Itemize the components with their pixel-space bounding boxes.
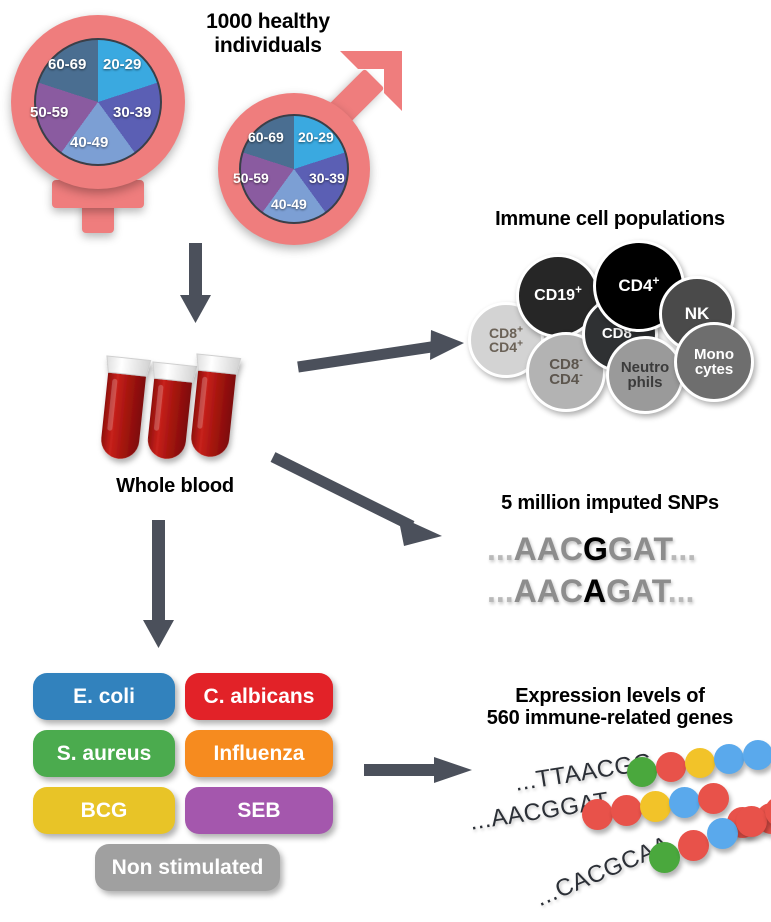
female-cohort-symbol: 20-29 30-39 40-49 50-59 60-69: [8, 12, 188, 237]
immune-cell-cd8n-cd4n-line1: CD8-: [549, 357, 583, 372]
snp-row-2-right: GAT: [606, 573, 668, 609]
gene-strand-3-bead-3: [707, 818, 738, 849]
stimulus-non-stimulated[interactable]: Non stimulated: [95, 844, 280, 891]
male-age-label-40-49: 40-49: [271, 196, 307, 212]
arrow-stimuli-to-expression: [364, 755, 474, 789]
gene-strand-2-bead-4: [669, 787, 700, 818]
gene-strand-2-bead-1: [582, 799, 613, 830]
title-imputed-snps: 5 million imputed SNPs: [450, 492, 770, 514]
gene-strand-1-bead-2: [656, 752, 686, 782]
immune-cell-cd19p-label: CD19+: [534, 288, 582, 304]
female-age-label-50-59: 50-59: [30, 104, 68, 121]
gene-strand-3-bead-2: [678, 830, 709, 861]
stimulus-seb-label: SEB: [237, 799, 280, 823]
stimulus-s-aureus[interactable]: S. aureus: [33, 730, 175, 777]
immune-cell-nk-label: NK: [685, 305, 710, 322]
gene-strand-3: ...CACGCAA: [537, 852, 771, 922]
arrow-blood-to-snps: [270, 450, 456, 550]
arrow-cohort-to-blood: [176, 243, 216, 327]
immune-cell-neutrophils-line2: phils: [627, 375, 662, 390]
whole-blood-tubes: [96, 338, 256, 463]
stimulus-seb[interactable]: SEB: [185, 787, 333, 834]
immune-cell-monocytes-line1: Mono: [694, 347, 734, 362]
stimuli-panel: E. coli C. albicans S. aureus Influenza …: [33, 673, 335, 893]
immune-cell-monocytes-line2: cytes: [695, 362, 733, 377]
snp-row-1-variant: G: [583, 531, 608, 567]
stimulus-c-albicans[interactable]: C. albicans: [185, 673, 333, 720]
female-age-label-40-49: 40-49: [70, 134, 108, 151]
gene-strand-3-bead-4: [736, 806, 767, 837]
snp-row-2-prefix: ...: [487, 573, 514, 609]
gene-strand-2-bead-3: [640, 791, 671, 822]
male-age-label-30-39: 30-39: [309, 170, 345, 186]
male-age-label-50-59: 50-59: [233, 170, 269, 186]
arrow-blood-to-stimuli: [138, 520, 180, 650]
gene-strand-1-bead-4: [714, 744, 744, 774]
stimulus-c-albicans-label: C. albicans: [204, 685, 315, 709]
gene-strand-2-bead-5: [698, 783, 729, 814]
stimulus-s-aureus-label: S. aureus: [57, 742, 152, 766]
snp-row-1-suffix: ...: [670, 531, 697, 567]
male-age-label-20-29: 20-29: [298, 129, 334, 145]
male-age-label-60-69: 60-69: [248, 129, 284, 145]
snp-row-1-prefix: ...: [487, 531, 514, 567]
gene-strand-3-bead-1: [649, 842, 680, 873]
immune-cell-neutrophils-line1: Neutro: [621, 360, 669, 375]
immune-cell-cd8p-cd4p-line2: CD4+: [489, 340, 523, 354]
gene-strand-2-bead-2: [611, 795, 642, 826]
immune-cell-cd8n-cd4n-line2: CD4-: [549, 372, 583, 387]
snp-row-1-right: GAT: [608, 531, 670, 567]
label-whole-blood: Whole blood: [60, 475, 290, 497]
snp-row-2-variant: A: [583, 573, 606, 609]
immune-cell-cd4p-label: CD4+: [618, 277, 659, 294]
title-expression-levels-line2: 560 immune-related genes: [450, 707, 770, 729]
stimulus-e-coli-label: E. coli: [73, 685, 135, 709]
gene-strand-1-bead-1: [627, 757, 657, 787]
snp-row-1-left: AAC: [514, 531, 583, 567]
male-cohort-symbol: 20-29 30-39 40-49 50-59 60-69: [210, 55, 410, 250]
title-expression-levels-line1: Expression levels of: [450, 685, 770, 707]
stimulus-bcg-label: BCG: [81, 799, 128, 823]
female-age-label-20-29: 20-29: [103, 56, 141, 73]
stimulus-influenza[interactable]: Influenza: [185, 730, 333, 777]
gene-strand-1-bead-5: [743, 740, 771, 770]
stimulus-influenza-label: Influenza: [213, 742, 304, 766]
title-immune-cell-populations: Immune cell populations: [450, 208, 770, 230]
snp-row-2-suffix: ...: [668, 573, 695, 609]
stimulus-e-coli[interactable]: E. coli: [33, 673, 175, 720]
gene-strand-1-bead-3: [685, 748, 715, 778]
immune-cell-monocytes: Mono cytes: [674, 322, 754, 402]
stimulus-bcg[interactable]: BCG: [33, 787, 175, 834]
arrow-blood-to-immune-cells: [296, 330, 472, 378]
snp-row-2-left: AAC: [514, 573, 583, 609]
immune-cell-cluster: CD8+ CD4+ CD19+ CD8- CD4- CD8+ CD4+ Neut…: [460, 240, 760, 412]
title-expression-levels: Expression levels of 560 immune-related …: [450, 685, 770, 730]
female-age-label-60-69: 60-69: [48, 56, 86, 73]
stimulus-non-stimulated-label: Non stimulated: [112, 856, 264, 880]
immune-cell-neutrophils: Neutro phils: [606, 336, 684, 414]
female-age-label-30-39: 30-39: [113, 104, 151, 121]
snp-sequence-row-2: ...AACAGAT...: [487, 573, 694, 610]
snp-sequence-row-1: ...AACGGAT...: [487, 531, 696, 568]
